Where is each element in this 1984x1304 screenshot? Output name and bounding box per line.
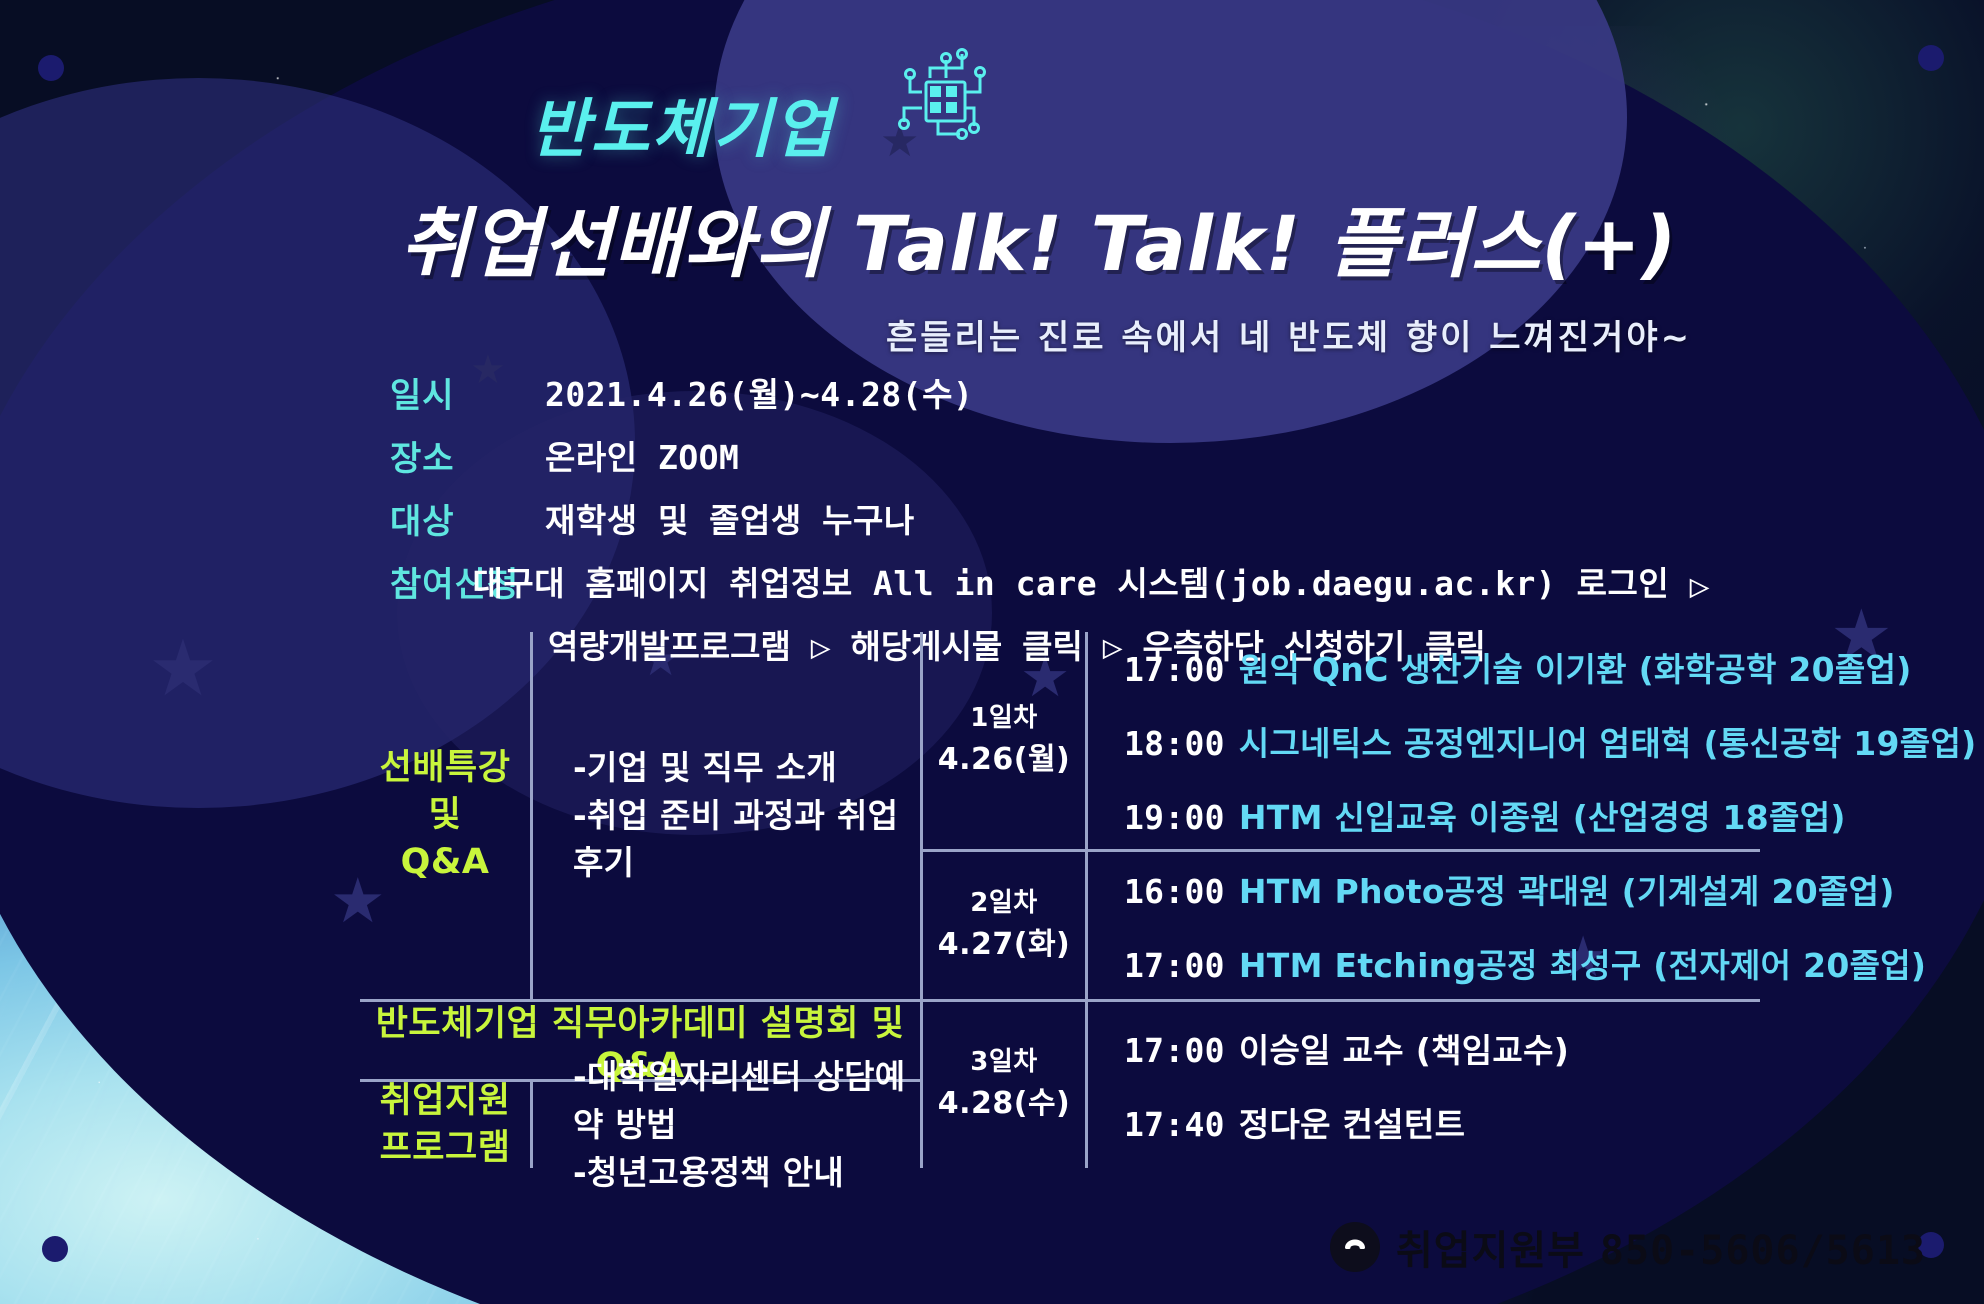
desc2-line-2: -청년고용정책 안내 bbox=[573, 1149, 920, 1197]
day2-ordinal: 2일차 bbox=[970, 885, 1037, 923]
desc2-line-1: -대학일자리센터 상담예약 방법 bbox=[573, 1053, 920, 1149]
session-row: 17:40정다운 컨설턴트 bbox=[1124, 1098, 1760, 1146]
session-name: HTM 신입교육 이종원 (산업경영 18졸업) bbox=[1239, 798, 1846, 837]
footer-dept: 취업지원부 bbox=[1396, 1228, 1585, 1274]
session-name: 원익 QnC 생산기술 이기환 (화학공학 20졸업) bbox=[1239, 650, 1912, 689]
schedule-day1-sessions: 17:00원익 QnC 생산기술 이기환 (화학공학 20졸업) 18:00시그… bbox=[1085, 632, 1760, 852]
session-name: 이승일 교수 (책임교수) bbox=[1239, 1031, 1569, 1070]
category2-line-1: 취업지원 bbox=[380, 1078, 511, 1125]
day2-date: 4.27(화) bbox=[938, 923, 1071, 967]
session-time: 17:00 bbox=[1124, 650, 1225, 689]
footer-contact: 취업지원부 850-5606/5613 bbox=[1330, 1218, 1926, 1276]
session-time: 16:00 bbox=[1124, 872, 1225, 911]
session-row: 17:00원익 QnC 생산기술 이기환 (화학공학 20졸업) bbox=[1124, 643, 1760, 691]
session-row: 17:00HTM Etching공정 최성구 (전자제어 20졸업) bbox=[1124, 939, 1760, 987]
schedule-day3-label: 3일차 4.28(수) bbox=[920, 1002, 1085, 1168]
category-line-3: Q&A bbox=[401, 839, 490, 886]
desc-line-1: -기업 및 직무 소개 bbox=[573, 744, 920, 792]
event-info-block: 일시 2021.4.26(월)~4.28(수) 장소 온라인 ZOOM 대상 재… bbox=[390, 368, 1710, 668]
schedule-day1-label: 1일차 4.26(월) bbox=[920, 632, 1085, 852]
schedule-day2-label: 2일차 4.27(화) bbox=[920, 852, 1085, 1002]
info-row-place: 장소 온라인 ZOOM bbox=[390, 431, 1710, 480]
schedule-table: 선배특강 및 Q&A -기업 및 직무 소개 -취업 준비 과정과 취업 후기 … bbox=[360, 632, 1760, 1168]
session-row: 19:00HTM 신입교육 이종원 (산업경영 18졸업) bbox=[1124, 791, 1760, 839]
session-row: 18:00시그네틱스 공정엔지니어 엄태혁 (통신공학 19졸업) bbox=[1124, 717, 1760, 765]
session-row: 16:00HTM Photo공정 곽대원 (기계설계 20졸업) bbox=[1124, 865, 1760, 913]
info-value-date: 2021.4.26(월)~4.28(수) bbox=[545, 368, 973, 416]
desc-line-2: -취업 준비 과정과 취업 후기 bbox=[573, 792, 920, 888]
poster-subtitle: 흔들리는 진로 속에서 네 반도체 향이 느껴진거야~ bbox=[886, 310, 1692, 359]
schedule-day3-sessions: 17:00이승일 교수 (책임교수) 17:40정다운 컨설턴트 bbox=[1085, 1002, 1760, 1168]
circuit-chip-icon bbox=[890, 48, 1000, 157]
info-row-target: 대상 재학생 및 졸업생 누구나 bbox=[390, 494, 1710, 543]
day3-ordinal: 3일차 bbox=[970, 1044, 1037, 1082]
info-row-apply: 참여신청 대구대 홈페이지 취업정보 All in care 시스템(job.d… bbox=[390, 557, 1710, 606]
poster-canvas: ★ ★ ★ ★ ★ ★ ★ ★ 반도체기업 bbox=[0, 0, 1984, 1304]
info-apply-text: 대구대 홈페이지 취업정보 All in care 시스템(job.daegu.… bbox=[472, 564, 1669, 603]
info-label-date: 일시 bbox=[390, 368, 545, 417]
category2-line-2: 프로그램 bbox=[380, 1125, 511, 1172]
day1-date: 4.26(월) bbox=[938, 738, 1071, 782]
day1-ordinal: 1일차 bbox=[970, 700, 1037, 738]
schedule-category-lecture: 선배특강 및 Q&A bbox=[360, 632, 530, 1002]
schedule-desc-support: -대학일자리센터 상담예약 방법 -청년고용정책 안내 bbox=[530, 1082, 920, 1168]
session-time: 17:00 bbox=[1124, 946, 1225, 985]
info-row-date: 일시 2021.4.26(월)~4.28(수) bbox=[390, 368, 1710, 417]
info-value-apply: 대구대 홈페이지 취업정보 All in care 시스템(job.daegu.… bbox=[472, 557, 1710, 605]
session-name: HTM Etching공정 최성구 (전자제어 20졸업) bbox=[1239, 946, 1926, 985]
session-time: 18:00 bbox=[1124, 724, 1225, 763]
session-time: 17:40 bbox=[1124, 1105, 1225, 1144]
info-label-place: 장소 bbox=[390, 431, 545, 480]
category-line-1: 선배특강 bbox=[380, 745, 511, 792]
footer-text: 취업지원부 850-5606/5613 bbox=[1396, 1218, 1926, 1276]
category-line-2: 및 bbox=[429, 792, 462, 839]
footer-phone: 850-5606/5613 bbox=[1600, 1228, 1926, 1274]
session-name: 시그네틱스 공정엔지니어 엄태혁 (통신공학 19졸업) bbox=[1239, 724, 1977, 763]
triangle-arrow-icon: ▷ bbox=[1690, 566, 1710, 605]
schedule-category-support: 취업지원 프로그램 bbox=[360, 1082, 530, 1168]
poster-title: 취업선배와의 Talk! Talk! 플러스(+) bbox=[400, 182, 1600, 292]
session-row: 17:00이승일 교수 (책임교수) bbox=[1124, 1024, 1760, 1072]
day3-date: 4.28(수) bbox=[938, 1082, 1071, 1126]
schedule-desc-lecture: -기업 및 직무 소개 -취업 준비 과정과 취업 후기 bbox=[530, 632, 920, 1002]
poster-kicker: 반도체기업 bbox=[530, 78, 834, 170]
session-time: 19:00 bbox=[1124, 798, 1225, 837]
info-label-apply: 참여신청 bbox=[390, 557, 472, 606]
session-name: HTM Photo공정 곽대원 (기계설계 20졸업) bbox=[1239, 872, 1895, 911]
info-value-place: 온라인 ZOOM bbox=[545, 431, 739, 479]
phone-icon bbox=[1330, 1222, 1380, 1272]
info-label-target: 대상 bbox=[390, 494, 545, 543]
schedule-day2-sessions: 16:00HTM Photo공정 곽대원 (기계설계 20졸업) 17:00HT… bbox=[1085, 852, 1760, 1002]
session-name: 정다운 컨설턴트 bbox=[1239, 1105, 1465, 1144]
session-time: 17:00 bbox=[1124, 1031, 1225, 1070]
info-value-target: 재학생 및 졸업생 누구나 bbox=[545, 494, 915, 542]
